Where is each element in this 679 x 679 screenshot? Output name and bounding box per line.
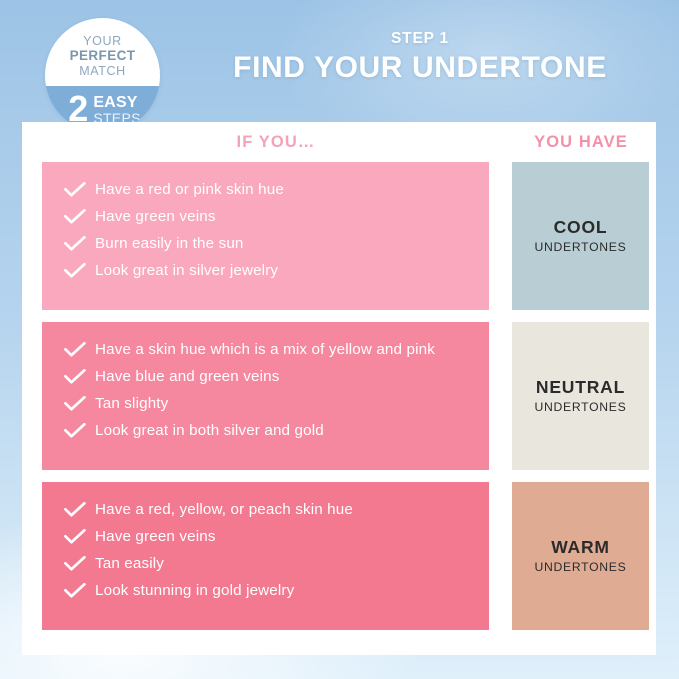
page-title: FIND YOUR UNDERTONE (180, 50, 660, 86)
perfect-match-badge: YOUR PERFECT MATCH 2 EASY STEPS (45, 18, 160, 133)
check-icon (64, 396, 86, 411)
criteria-item: Tan slighty (64, 393, 471, 414)
criteria-block: Have a skin hue which is a mix of yellow… (42, 322, 489, 470)
swatch-title: NEUTRAL (536, 377, 625, 398)
criteria-item-label: Look stunning in gold jewelry (95, 580, 294, 601)
criteria-item-label: Have a red, yellow, or peach skin hue (95, 499, 353, 520)
criteria-item-label: Burn easily in the sun (95, 233, 244, 254)
criteria-item: Have blue and green veins (64, 366, 471, 387)
column-headers: IF YOU… YOU HAVE (22, 122, 656, 162)
criteria-item: Tan easily (64, 553, 471, 574)
criteria-item: Look stunning in gold jewelry (64, 580, 471, 601)
criteria-item-label: Look great in silver jewelry (95, 260, 278, 281)
undertone-swatch: NEUTRALUNDERTONES (512, 322, 649, 470)
criteria-item-label: Look great in both silver and gold (95, 420, 324, 441)
check-icon (64, 423, 86, 438)
check-icon (64, 263, 86, 278)
check-icon (64, 529, 86, 544)
criteria-item-label: Have blue and green veins (95, 366, 279, 387)
page-header: STEP 1 FIND YOUR UNDERTONE (180, 30, 660, 86)
criteria-item: Have green veins (64, 206, 471, 227)
check-icon (64, 556, 86, 571)
badge-top-half: YOUR PERFECT MATCH (45, 18, 160, 86)
criteria-item: Look great in silver jewelry (64, 260, 471, 281)
badge-line-match: MATCH (45, 64, 160, 79)
badge-steps-text: EASY STEPS (93, 95, 140, 126)
criteria-item: Have a red, yellow, or peach skin hue (64, 499, 471, 520)
criteria-item-label: Have a red or pink skin hue (95, 179, 284, 200)
swatch-subtitle: UNDERTONES (535, 239, 627, 255)
criteria-item-label: Have green veins (95, 206, 216, 227)
undertone-row: Have a red, yellow, or peach skin hueHav… (22, 482, 656, 630)
infographic-canvas: YOUR PERFECT MATCH 2 EASY STEPS STEP 1 F… (0, 0, 679, 679)
criteria-block: Have a red, yellow, or peach skin hueHav… (42, 482, 489, 630)
check-icon (64, 236, 86, 251)
badge-easy-label: EASY (93, 95, 140, 111)
swatch-title: WARM (551, 537, 610, 558)
swatch-subtitle: UNDERTONES (535, 399, 627, 415)
step-label: STEP 1 (180, 30, 660, 48)
check-icon (64, 502, 86, 517)
column-header-you-have: YOU HAVE (512, 133, 650, 152)
badge-line-your: YOUR (45, 34, 160, 48)
check-icon (64, 342, 86, 357)
criteria-block: Have a red or pink skin hueHave green ve… (42, 162, 489, 310)
check-icon (64, 369, 86, 384)
criteria-item: Have green veins (64, 526, 471, 547)
undertone-card: IF YOU… YOU HAVE Have a red or pink skin… (22, 122, 656, 655)
criteria-item-label: Tan easily (95, 553, 164, 574)
criteria-item-label: Have a skin hue which is a mix of yellow… (95, 339, 435, 360)
undertone-swatch: COOLUNDERTONES (512, 162, 649, 310)
criteria-item: Burn easily in the sun (64, 233, 471, 254)
undertone-row: Have a red or pink skin hueHave green ve… (22, 162, 656, 310)
criteria-item-label: Tan slighty (95, 393, 168, 414)
column-header-if-you: IF YOU… (42, 133, 510, 152)
criteria-item: Have a red or pink skin hue (64, 179, 471, 200)
undertone-rows: Have a red or pink skin hueHave green ve… (22, 162, 656, 630)
check-icon (64, 583, 86, 598)
swatch-title: COOL (554, 217, 608, 238)
criteria-item-label: Have green veins (95, 526, 216, 547)
check-icon (64, 182, 86, 197)
check-icon (64, 209, 86, 224)
badge-line-perfect: PERFECT (45, 48, 160, 64)
undertone-swatch: WARMUNDERTONES (512, 482, 649, 630)
criteria-item: Have a skin hue which is a mix of yellow… (64, 339, 471, 360)
undertone-row: Have a skin hue which is a mix of yellow… (22, 322, 656, 470)
criteria-item: Look great in both silver and gold (64, 420, 471, 441)
swatch-subtitle: UNDERTONES (535, 559, 627, 575)
